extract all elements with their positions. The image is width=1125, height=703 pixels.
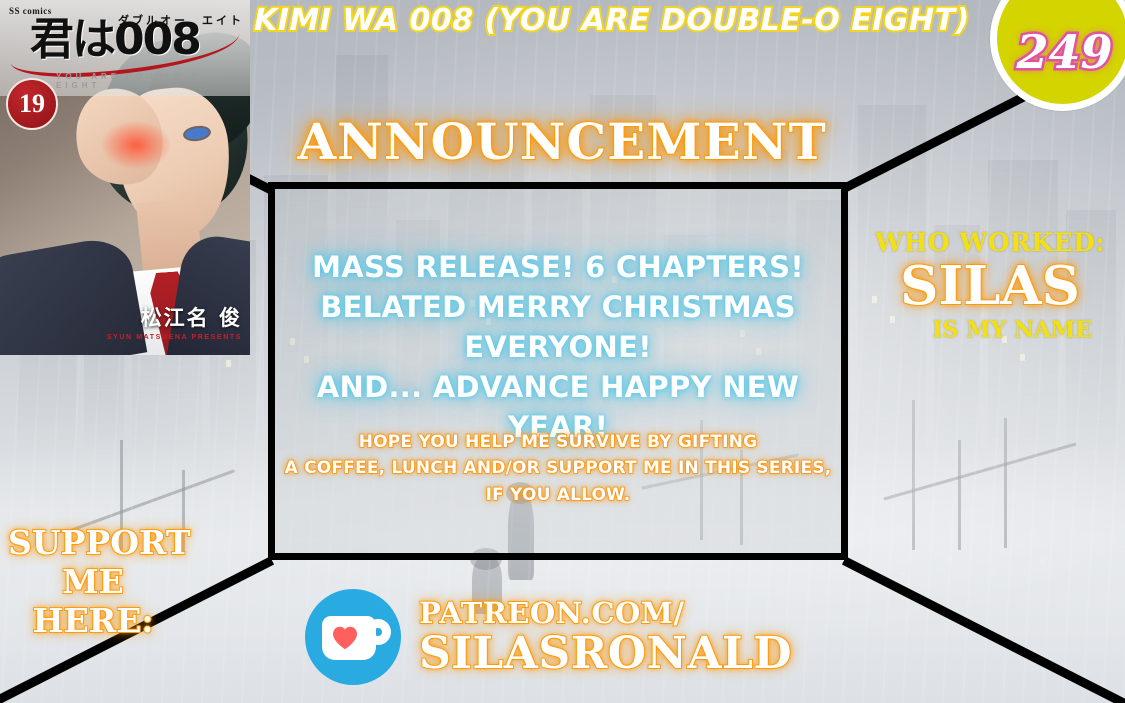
announcement-main-message: MASS RELEASE! 6 CHAPTERS! BELATED MERRY … — [275, 247, 841, 447]
sub-line-1: HOPE YOU HELP ME SURVIVE BY GIFTING — [275, 429, 841, 455]
cover-author: 松江名 俊 SYUN MATSUENA PRESENTS — [107, 302, 242, 341]
credits-name: SILAS — [858, 259, 1122, 315]
announcement-heading: ANNOUNCEMENT — [272, 112, 852, 171]
cover-title-jp: 君は008 — [30, 18, 200, 62]
sub-line-3: IF YOU ALLOW. — [275, 482, 841, 508]
support-heading: SUPPORT ME HERE: — [8, 524, 178, 641]
credits-panel: WHO WORKED: SILAS IS MY NAME — [858, 228, 1122, 343]
chapter-number: 249 — [1016, 25, 1112, 79]
main-line-1: MASS RELEASE! 6 CHAPTERS! — [275, 247, 841, 287]
patreon-url-line1: PATREON.COM/ — [419, 599, 792, 628]
announcement-box: MASS RELEASE! 6 CHAPTERS! BELATED MERRY … — [268, 182, 848, 560]
sub-line-2: A COFFEE, LUNCH AND/OR SUPPORT ME IN THI… — [275, 455, 841, 481]
manga-cover-thumbnail: SS comics ダブルオー エイト 君は008 YOU ARE DOUBLE… — [0, 0, 250, 355]
credits-subtitle: IS MY NAME — [858, 317, 1122, 343]
patreon-url-line2: SILASRONALD — [419, 632, 792, 676]
main-line-2: BELATED MERRY CHRISTMAS EVERYONE! — [275, 287, 841, 367]
support-heading-line1: SUPPORT — [8, 524, 178, 563]
kofi-cup-icon[interactable] — [305, 589, 401, 685]
series-title: KIMI WA 008 (YOU ARE DOUBLE-O EIGHT) — [254, 3, 870, 38]
patreon-link-row[interactable]: PATREON.COM/ SILASRONALD — [305, 589, 792, 685]
author-name-jp: 松江名 俊 — [107, 302, 242, 332]
support-heading-line2: ME HERE: — [8, 563, 178, 641]
volume-badge: 19 — [6, 78, 58, 130]
credits-label: WHO WORKED: — [858, 228, 1122, 257]
patreon-url[interactable]: PATREON.COM/ SILASRONALD — [419, 599, 792, 676]
author-name-romaji: SYUN MATSUENA PRESENTS — [107, 334, 242, 341]
announcement-sub-message: HOPE YOU HELP ME SURVIVE BY GIFTING A CO… — [275, 429, 841, 508]
heart-icon — [332, 626, 358, 650]
announcement-page: SS comics ダブルオー エイト 君は008 YOU ARE DOUBLE… — [0, 0, 1125, 703]
cover-title-romaji: YOU ARE DOUBLE-O EIGHT — [56, 72, 250, 90]
